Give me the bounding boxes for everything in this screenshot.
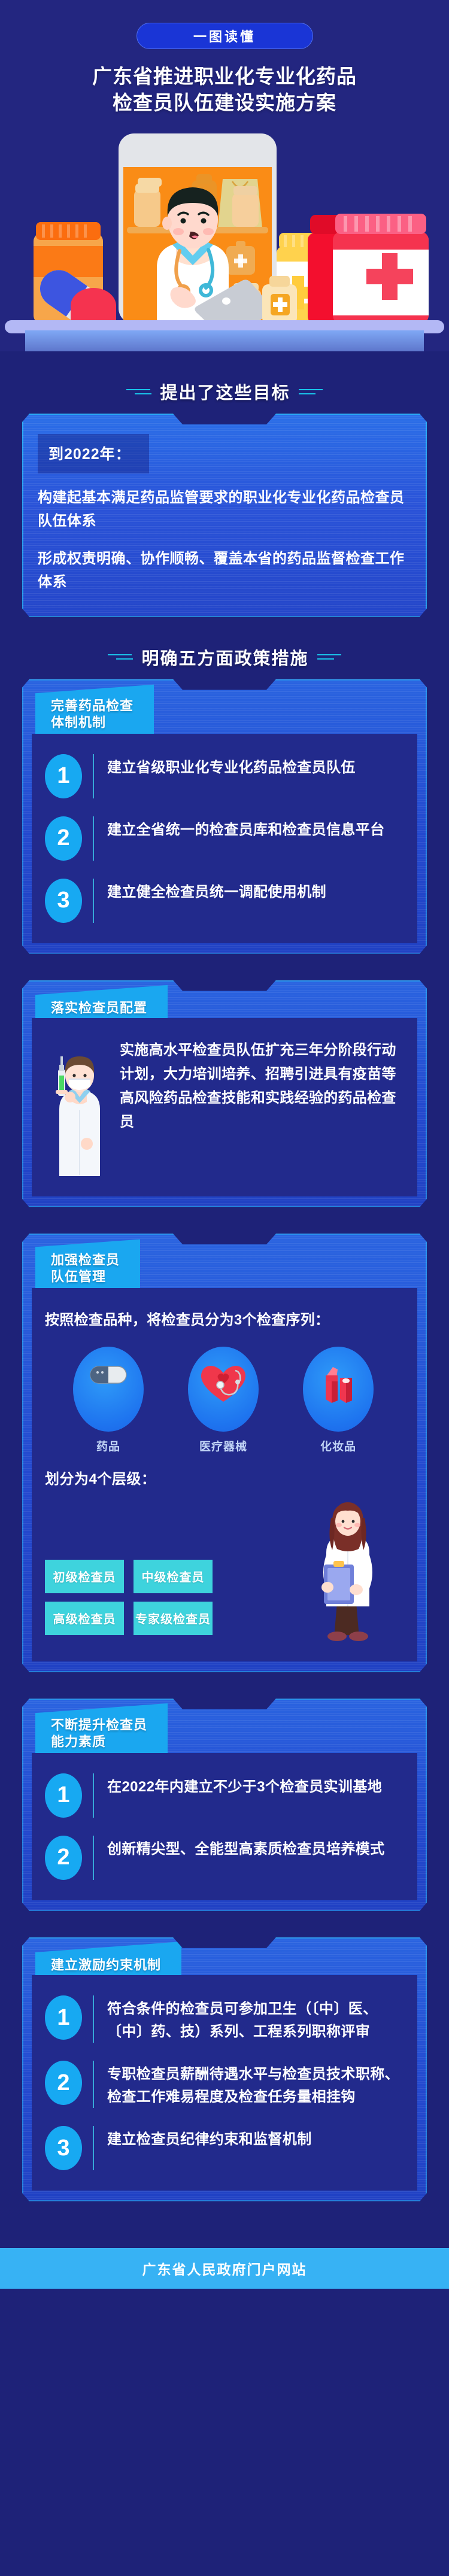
goals-heading: 提出了这些目标	[0, 379, 449, 404]
page-title: 广东省推进职业化专业化药品 检查员队伍建设实施方案	[0, 63, 449, 116]
measure-item-text: 专职检查员薪酬待遇水平与检查员技术职称、检查工作难易程度及检查任务量相挂钩	[107, 2061, 402, 2108]
heading-dashes-right	[317, 654, 341, 660]
measure-item: 3 建立检查员纪律约束和监督机制	[45, 2126, 402, 2170]
heading-dashes-left	[126, 389, 151, 394]
category-name: 化妆品	[302, 1438, 374, 1454]
heading-dashes-right	[299, 389, 323, 394]
measure-group-5-content: 1 符合条件的检查员可参加卫生（〔中〕医、〔中〕药、技）系列、工程系列职称评审 …	[32, 1975, 417, 2191]
heart-stethoscope-icon	[200, 1365, 247, 1404]
ribbon-line-2: 体制机制	[51, 713, 134, 730]
measure-item-text: 建立检查员纪律约束和监督机制	[107, 2126, 402, 2150]
measure-item-divider	[93, 1773, 94, 1818]
measure-item-number: 1	[45, 754, 82, 798]
page-title-line-2: 检查员队伍建设实施方案	[11, 90, 438, 116]
category-item: 医疗器械	[187, 1347, 259, 1454]
measure-item-divider	[93, 754, 94, 798]
measure-item-divider	[93, 2061, 94, 2108]
lipstick-icon	[318, 1365, 358, 1404]
measure-item-number: 2	[45, 1836, 82, 1880]
female-inspector-with-clipboard-illustration	[306, 1497, 402, 1641]
measure-item-divider	[93, 1995, 94, 2043]
measure-item-text: 创新精尖型、全能型高素质检查员培养模式	[107, 1836, 402, 1860]
measure-item-text: 符合条件的检查员可参加卫生（〔中〕医、〔中〕药、技）系列、工程系列职称评审	[107, 1995, 402, 2043]
measures-heading: 明确五方面政策措施	[0, 645, 449, 670]
measure-item: 1 建立省级职业化专业化药品检查员队伍	[45, 754, 402, 798]
nurse-with-syringe-illustration	[45, 1038, 114, 1176]
measure-item: 2 专职检查员薪酬待遇水平与检查员技术职称、检查工作难易程度及检查任务量相挂钩	[45, 2061, 402, 2108]
capsule-pill-icon	[90, 1365, 127, 1385]
ribbon-line-1: 不断提升检查员	[51, 1717, 147, 1733]
measure-item-number: 3	[45, 879, 82, 923]
measure-item-text: 在2022年内建立不少于3个检查员实训基地	[107, 1773, 402, 1798]
categories-lead-text: 按照检查品种，将检查员分为3个检查序列：	[45, 1308, 402, 1332]
category-disc	[303, 1347, 374, 1432]
level-chip: 专家级检查员	[134, 1602, 213, 1635]
goals-year-chip: 到2022年：	[38, 434, 149, 473]
measure-item: 2 建立全省统一的检查员库和检查员信息平台	[45, 816, 402, 861]
ribbon-line-2: 队伍管理	[51, 1268, 120, 1285]
level-chip: 高级检查员	[45, 1602, 124, 1635]
measure-item-divider	[93, 1836, 94, 1880]
measure-group-2-content: 实施高水平检查员队伍扩充三年分阶段行动计划，大力培训培养、招聘引进具有疫苗等高风…	[32, 1018, 417, 1196]
badge-container: 一图读懂	[0, 23, 449, 49]
level-chip: 中级检查员	[134, 1560, 213, 1593]
shelf-bar	[0, 320, 449, 351]
pharmacy-illustration	[0, 126, 449, 324]
measure-group-5: 建立激励约束机制 1 符合条件的检查员可参加卫生（〔中〕医、〔中〕药、技）系列、…	[22, 1937, 427, 2212]
ribbon-line-1: 落实检查员配置	[51, 1000, 147, 1016]
goals-section: 提出了这些目标 到2022年： 构建起基本满足药品监管要求的职业化专业化药品检查…	[0, 379, 449, 617]
ribbon-line-1: 加强检查员	[51, 1251, 120, 1268]
measure-item-divider	[93, 2126, 94, 2170]
category-name: 医疗器械	[187, 1438, 259, 1454]
measure-group-2-paragraph: 实施高水平检查员队伍扩充三年分阶段行动计划，大力培训培养、招聘引进具有疫苗等高风…	[120, 1038, 402, 1134]
category-name: 药品	[72, 1438, 144, 1454]
category-disc	[73, 1347, 144, 1432]
goals-heading-text: 提出了这些目标	[160, 379, 290, 404]
shelf-body	[25, 330, 424, 351]
heading-dashes-left	[108, 654, 133, 660]
measure-item-number: 1	[45, 1773, 82, 1818]
measure-item: 2 创新精尖型、全能型高素质检查员培养模式	[45, 1836, 402, 1880]
measure-item-number: 2	[45, 816, 82, 861]
measure-group-4: 不断提升检查员 能力素质 1 在2022年内建立不少于3个检查员实训基地 2 创…	[22, 1699, 427, 1922]
goal-item: 形成权责明确、协作顺畅、覆盖本省的药品监督检查工作体系	[38, 548, 411, 594]
goals-panel: 到2022年： 构建起基本满足药品监管要求的职业化专业化药品检查员队伍体系 形成…	[22, 414, 427, 617]
measure-item-text: 建立省级职业化专业化药品检查员队伍	[107, 754, 402, 779]
measure-item-divider	[93, 879, 94, 923]
ribbon-line-1: 完善药品检查	[51, 697, 134, 714]
category-list: 药品	[45, 1347, 402, 1454]
measure-item: 1 在2022年内建立不少于3个检查员实训基地	[45, 1773, 402, 1818]
measure-group-4-content: 1 在2022年内建立不少于3个检查员实训基地 2 创新精尖型、全能型高素质检查…	[32, 1753, 417, 1900]
measure-item: 1 符合条件的检查员可参加卫生（〔中〕医、〔中〕药、技）系列、工程系列职称评审	[45, 1995, 402, 2043]
measure-group-1-content: 1 建立省级职业化专业化药品检查员队伍 2 建立全省统一的检查员库和检查员信息平…	[32, 734, 417, 943]
measure-item-number: 2	[45, 2061, 82, 2105]
infographic-page: 一图读懂 广东省推进职业化专业化药品 检查员队伍建设实施方案	[0, 0, 449, 2576]
measure-item-text: 建立健全检查员统一调配使用机制	[107, 879, 402, 903]
category-disc	[188, 1347, 259, 1432]
measure-group-1: 完善药品检查 体制机制 1 建立省级职业化专业化药品检查员队伍 2 建立全省统一…	[22, 679, 427, 965]
ribbon-line-2: 能力素质	[51, 1733, 147, 1750]
measure-item-divider	[93, 816, 94, 861]
levels-grid: 初级检查员 中级检查员 高级检查员 专家级检查员	[45, 1560, 213, 1635]
footer-source-text: 广东省人民政府门户网站	[142, 2258, 307, 2279]
measures-section: 明确五方面政策措施 完善药品检查 体制机制 1 建立省级职业化专业化药品检查员队…	[0, 645, 449, 2213]
measures-heading-text: 明确五方面政策措施	[141, 645, 308, 670]
ribbon-line-1: 建立激励约束机制	[51, 1957, 161, 1973]
level-chip: 初级检查员	[45, 1560, 124, 1593]
goal-item: 构建起基本满足药品监管要求的职业化专业化药品检查员队伍体系	[38, 487, 411, 533]
measure-group-2: 落实检查员配置	[22, 980, 427, 1219]
hero-section: 一图读懂 广东省推进职业化专业化药品 检查员队伍建设实施方案	[0, 0, 449, 351]
page-title-line-1: 广东省推进职业化专业化药品	[92, 65, 357, 87]
measure-group-3: 加强检查员 队伍管理 按照检查品种，将检查员分为3个检查序列：	[22, 1234, 427, 1683]
measure-item: 3 建立健全检查员统一调配使用机制	[45, 879, 402, 923]
read-in-one-picture-badge: 一图读懂	[136, 23, 313, 49]
levels-title: 划分为4个层级：	[45, 1467, 402, 1488]
measure-item-text: 建立全省统一的检查员库和检查员信息平台	[107, 816, 402, 841]
footer-source-bar: 广东省人民政府门户网站	[0, 2248, 449, 2289]
measure-group-3-content: 按照检查品种，将检查员分为3个检查序列：	[32, 1288, 417, 1661]
measure-item-number: 3	[45, 2126, 82, 2170]
category-item: 化妆品	[302, 1347, 374, 1454]
measure-item-number: 1	[45, 1995, 82, 2040]
category-item: 药品	[72, 1347, 144, 1454]
